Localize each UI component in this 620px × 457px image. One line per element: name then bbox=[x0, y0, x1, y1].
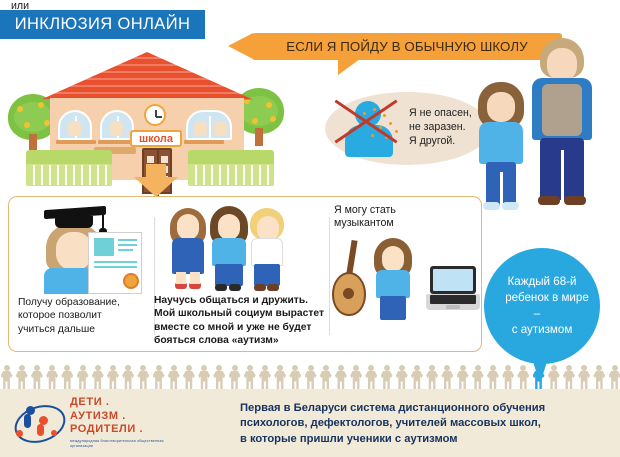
school-illustration: школа bbox=[8, 52, 288, 192]
socialization-line-3: вместе со мной и уже не будет bbox=[154, 321, 330, 334]
logo-word-1: ДЕТИ . bbox=[70, 396, 170, 410]
stigma-text: Я не опасен, не заразен. Я другой. bbox=[409, 106, 485, 148]
graduate-illustration bbox=[28, 206, 138, 292]
organization-logo: ДЕТИ . АУТИЗМ . РОДИТЕЛИ . международная… bbox=[12, 396, 172, 452]
person-figure bbox=[410, 365, 423, 389]
footer-line-3: в которые пришли ученики с аутизмом bbox=[240, 432, 610, 447]
guitar-neck bbox=[346, 240, 358, 276]
statistic-line-2: ребенок в мире – bbox=[495, 291, 589, 320]
education-line-2: которое позволит bbox=[18, 309, 146, 322]
person-figure bbox=[61, 365, 74, 389]
school-sign-label: школа bbox=[139, 133, 173, 145]
person-figure bbox=[593, 365, 606, 389]
logo-word-3: РОДИТЕЛИ . bbox=[70, 423, 170, 437]
person-figure bbox=[365, 365, 378, 389]
logo-text: ДЕТИ . АУТИЗМ . РОДИТЕЛИ . международная… bbox=[70, 396, 170, 449]
logo-mark-icon bbox=[12, 400, 64, 444]
socialization-line-4: бояться слова «аутизм» bbox=[154, 334, 330, 347]
arrow-banner-tail bbox=[338, 59, 360, 75]
education-text: Получу образование, которое позволит учи… bbox=[18, 296, 146, 336]
statistic-line-1: Каждый 68-й bbox=[498, 275, 587, 288]
person-figure bbox=[395, 365, 408, 389]
talent-music-line-1: Я могу стать bbox=[334, 204, 430, 217]
logo-word-2: АУТИЗМ . bbox=[70, 410, 170, 424]
stigma-line-3: Я другой. bbox=[409, 134, 485, 148]
school-window-1 bbox=[58, 110, 92, 140]
person-figure bbox=[380, 365, 393, 389]
header-band: ИНКЛЮЗИЯ ОНЛАЙН bbox=[0, 10, 205, 39]
person-figure bbox=[137, 365, 150, 389]
person-figure bbox=[578, 365, 591, 389]
statistic-text: Каждый 68-й ребенок в мире – с аутизмом bbox=[484, 274, 600, 338]
footer-line-1: Первая в Беларуси система дистанционного… bbox=[240, 401, 610, 416]
person-figure bbox=[152, 365, 165, 389]
fence-left bbox=[26, 164, 112, 186]
family-illustration bbox=[478, 38, 608, 238]
school-window-2 bbox=[100, 110, 134, 140]
person-figure bbox=[274, 365, 287, 389]
person-figure bbox=[547, 365, 560, 389]
certificate-icon bbox=[88, 232, 142, 294]
socialization-text: Научусь общаться и дружить. Мой школьный… bbox=[154, 294, 330, 348]
person-figure bbox=[304, 365, 317, 389]
laptop-icon bbox=[426, 266, 480, 310]
talents-illustration bbox=[330, 236, 480, 320]
socialization-line-1: Научусь общаться и дружить. bbox=[154, 294, 330, 307]
school-clock-icon bbox=[144, 104, 166, 126]
person-figure bbox=[30, 365, 43, 389]
person-figure bbox=[289, 365, 302, 389]
talent-music-line-2: музыкантом bbox=[334, 217, 430, 230]
person-figure bbox=[46, 365, 59, 389]
education-line-3: учиться дальше bbox=[18, 323, 146, 336]
seal-icon bbox=[123, 273, 139, 289]
stigma-line-2: не заразен. bbox=[409, 120, 485, 134]
person-figure bbox=[517, 365, 530, 389]
person-figure bbox=[213, 365, 226, 389]
person-figure bbox=[258, 365, 271, 389]
person-figure bbox=[106, 365, 119, 389]
talent-music-text: Я могу стать музыкантом bbox=[334, 204, 430, 230]
parent-figure bbox=[514, 38, 610, 208]
person-figure bbox=[182, 365, 195, 389]
socialization-line-2: Мой школьный социум вырастет bbox=[154, 307, 330, 320]
person-figure bbox=[319, 365, 332, 389]
musician-child-figure bbox=[372, 236, 416, 320]
person-figure bbox=[334, 365, 347, 389]
person-figure bbox=[0, 365, 13, 389]
footer-line-2: психологов, дефектологов, учителей массо… bbox=[240, 416, 610, 431]
person-figure bbox=[198, 365, 211, 389]
person-figure bbox=[562, 365, 575, 389]
person-figure bbox=[608, 365, 620, 389]
person-figure bbox=[502, 365, 515, 389]
statistic-line-3: с аутизмом bbox=[502, 323, 583, 336]
person-figure bbox=[471, 365, 484, 389]
people-strip bbox=[0, 361, 620, 389]
down-arrow-icon bbox=[134, 177, 178, 197]
person-figure bbox=[456, 365, 469, 389]
person-figure bbox=[243, 365, 256, 389]
person-figure bbox=[122, 365, 135, 389]
children-group-illustration bbox=[168, 204, 288, 294]
person-figure bbox=[486, 365, 499, 389]
person-figure bbox=[426, 365, 439, 389]
school-window-3 bbox=[186, 110, 232, 140]
person-figure-highlighted bbox=[532, 365, 545, 389]
fence-right bbox=[188, 164, 274, 186]
child-figure bbox=[478, 38, 528, 213]
school-sign: школа bbox=[130, 130, 182, 147]
page-title: ИНКЛЮЗИЯ ОНЛАЙН bbox=[15, 15, 191, 34]
person-figure bbox=[228, 365, 241, 389]
person-figure bbox=[167, 365, 180, 389]
logo-subtitle: международная благотворительная обществе… bbox=[70, 439, 170, 449]
person-figure bbox=[441, 365, 454, 389]
infographic-poster: ИНКЛЮЗИЯ ОНЛАЙН ЕСЛИ Я ПОЙДУ В ОБЫЧНУЮ Ш… bbox=[0, 0, 620, 457]
stigma-line-1: Я не опасен, bbox=[409, 106, 485, 120]
person-figure bbox=[76, 365, 89, 389]
education-line-1: Получу образование, bbox=[18, 296, 146, 309]
stigma-callout: Я не опасен, не заразен. Я другой. bbox=[325, 92, 490, 165]
footer-text: Первая в Беларуси система дистанционного… bbox=[240, 401, 610, 447]
person-figure bbox=[350, 365, 363, 389]
school-roof-texture bbox=[40, 52, 254, 100]
person-figure bbox=[15, 365, 28, 389]
person-figure bbox=[91, 365, 104, 389]
statistic-bubble: Каждый 68-й ребенок в мире – с аутизмом bbox=[484, 248, 600, 364]
